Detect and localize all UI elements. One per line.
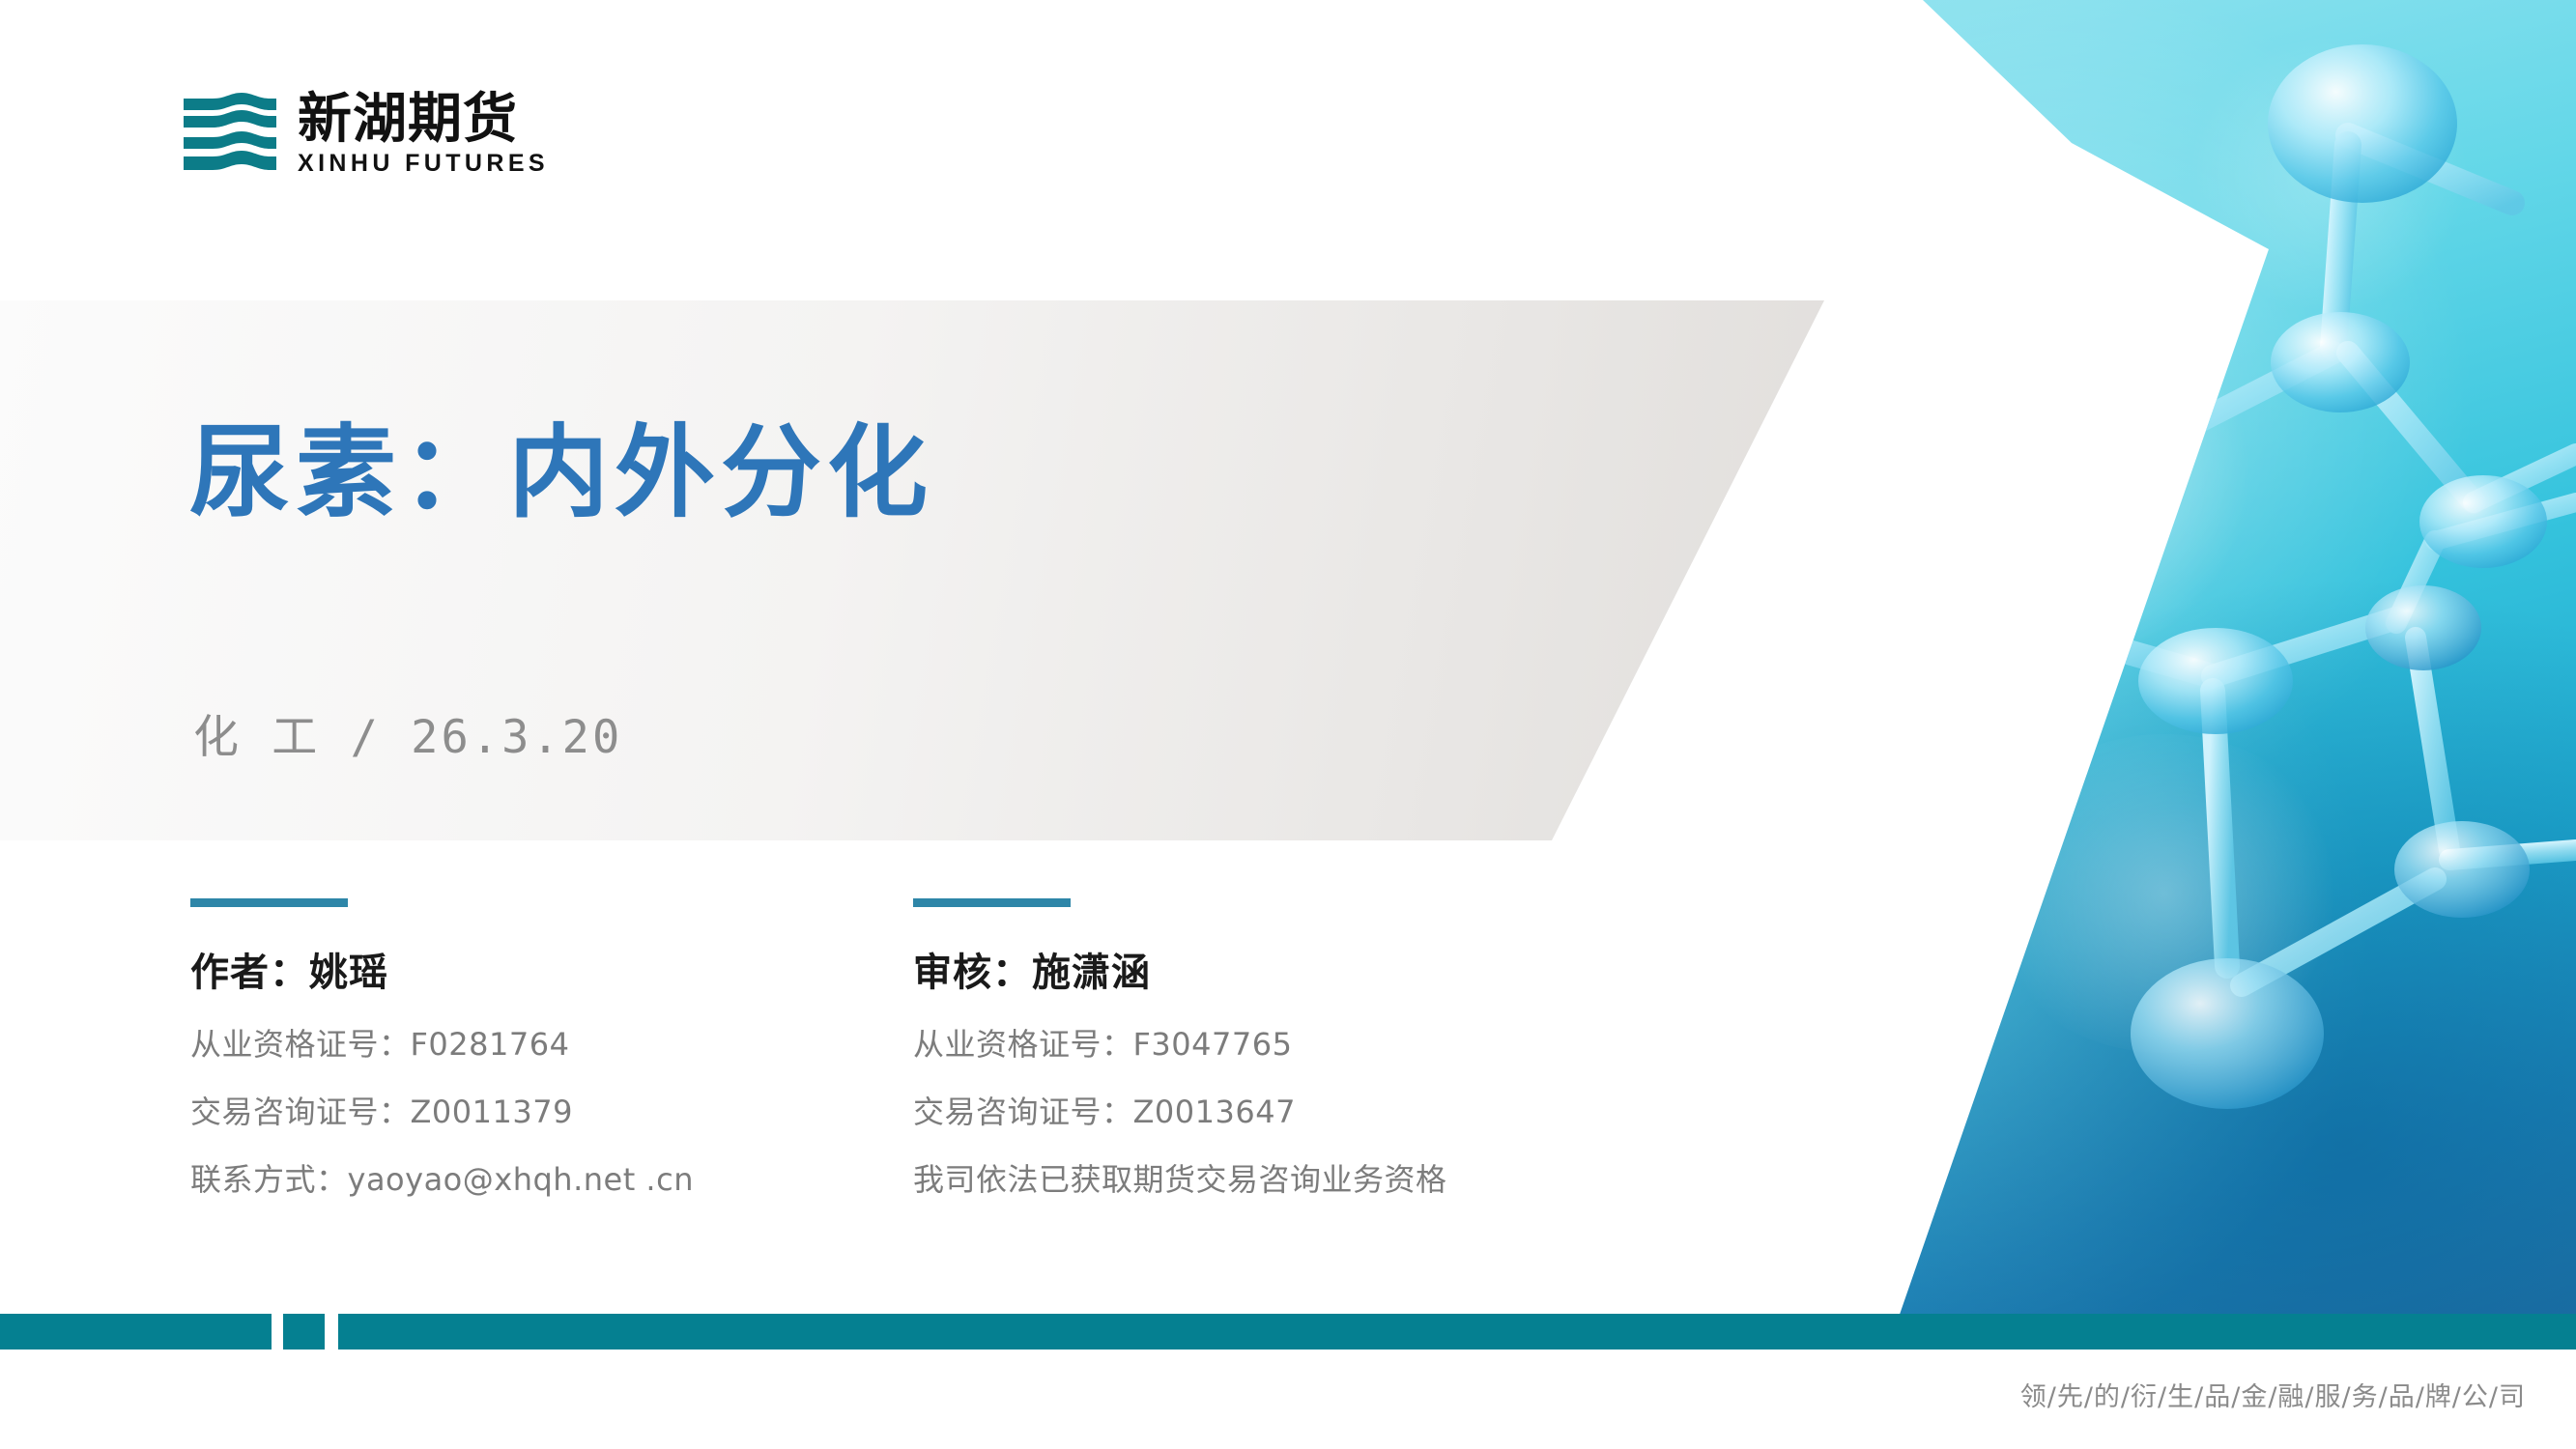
molecule-structure-icon (1894, 0, 2576, 1331)
compliance-statement: 我司依法已获取期货交易咨询业务资格 (913, 1155, 1447, 1200)
footer-bar-tick-1 (272, 1314, 283, 1350)
reviewer-name: 审核：施潇涵 (913, 941, 1447, 997)
reviewer-accent-bar (913, 898, 1071, 907)
footer-bar (0, 1314, 2576, 1350)
footer-slogan: 领/先/的/衍/生/品/金/融/服/务/品/牌/公/司 (2020, 1376, 2526, 1413)
reviewer-qualification: 从业资格证号：F3047765 (913, 1020, 1447, 1065)
author-name: 作者：姚瑶 (190, 941, 694, 997)
author-accent-bar (190, 898, 348, 907)
logo-company-name-en: XINHU FUTURES (298, 151, 549, 178)
reviewer-block: 审核：施潇涵 从业资格证号：F3047765 交易咨询证号：Z0013647 我… (913, 898, 1447, 1200)
author-qualification: 从业资格证号：F0281764 (190, 1020, 694, 1065)
reviewer-consulting-number: 交易咨询证号：Z0013647 (913, 1088, 1447, 1132)
molecule-photo (1894, 0, 2576, 1331)
company-logo: 新湖期货 XINHU FUTURES (184, 92, 549, 178)
footer-bar-tick-2 (325, 1314, 338, 1350)
author-consulting-number: 交易咨询证号：Z0011379 (190, 1088, 694, 1132)
wave-mark-icon (184, 93, 276, 176)
page-subtitle: 化 工 / 26.3.20 (193, 699, 622, 766)
logo-company-name-cn: 新湖期货 (298, 92, 549, 148)
page-title: 尿素：内外分化 (189, 390, 933, 536)
author-contact: 联系方式：yaoyao@xhqh.net .cn (190, 1155, 694, 1200)
author-block: 作者：姚瑶 从业资格证号：F0281764 交易咨询证号：Z0011379 联系… (190, 898, 694, 1200)
title-slide: 新湖期货 XINHU FUTURES 尿素：内外分化 化 工 / 26.3.20… (0, 0, 2576, 1449)
